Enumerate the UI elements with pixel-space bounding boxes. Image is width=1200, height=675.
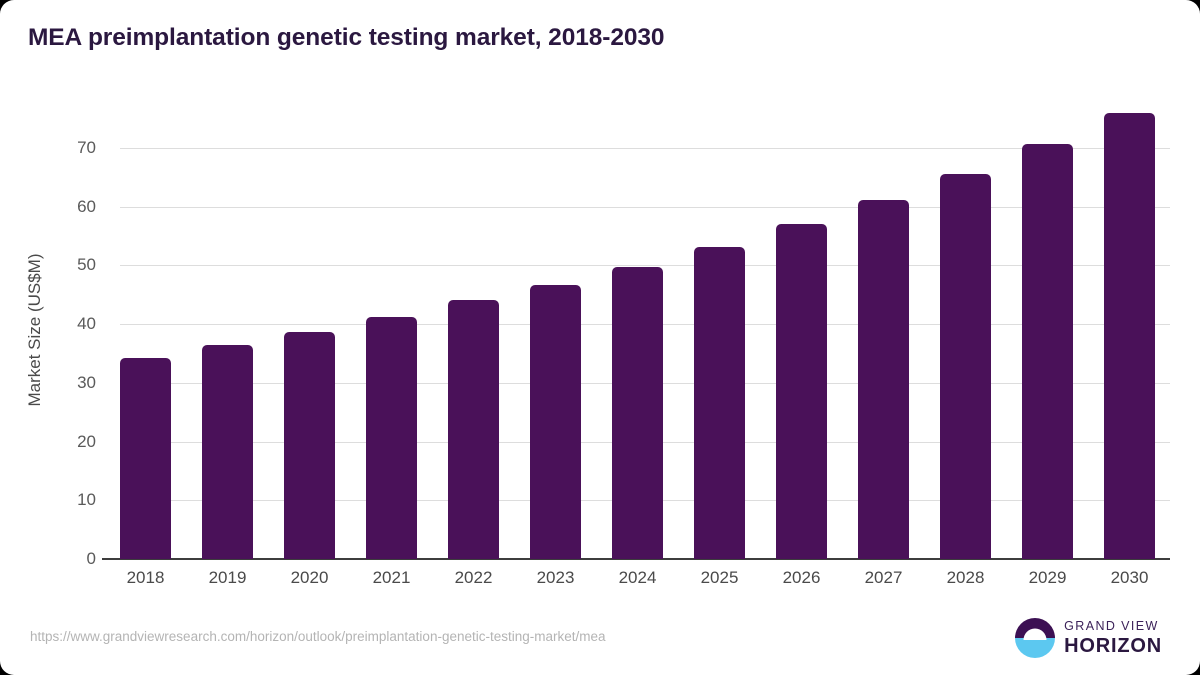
y-tick-label: 60 xyxy=(40,197,96,217)
x-tick-label-2023: 2023 xyxy=(516,568,596,588)
bar-2024[interactable] xyxy=(612,267,663,559)
logo-wordmark: GRAND VIEW HORIZON xyxy=(1064,620,1162,656)
grand-view-horizon-logo-icon xyxy=(1015,618,1055,658)
bar-2023[interactable] xyxy=(530,285,581,559)
x-tick-label-2025: 2025 xyxy=(680,568,760,588)
x-tick-label-2022: 2022 xyxy=(434,568,514,588)
y-tick-label: 30 xyxy=(40,373,96,393)
logo-line-1: GRAND VIEW xyxy=(1064,620,1162,633)
y-tick-label: 20 xyxy=(40,432,96,452)
bar-2019[interactable] xyxy=(202,345,253,559)
gridline xyxy=(120,207,1170,208)
x-tick-label-2019: 2019 xyxy=(188,568,268,588)
x-tick-label-2020: 2020 xyxy=(270,568,350,588)
bar-2018[interactable] xyxy=(120,358,171,559)
x-tick-label-2021: 2021 xyxy=(352,568,432,588)
x-tick-label-2029: 2029 xyxy=(1008,568,1088,588)
brand-logo: GRAND VIEW HORIZON xyxy=(1015,618,1162,658)
bar-2029[interactable] xyxy=(1022,144,1073,559)
bar-2022[interactable] xyxy=(448,300,499,559)
y-tick-label: 0 xyxy=(40,549,96,569)
chart-plot-area: Market Size (US$M) 010203040506070 20182… xyxy=(0,0,1200,675)
y-tick-label: 50 xyxy=(40,255,96,275)
bar-2028[interactable] xyxy=(940,174,991,559)
x-tick-label-2030: 2030 xyxy=(1090,568,1170,588)
x-tick-label-2028: 2028 xyxy=(926,568,1006,588)
bar-2030[interactable] xyxy=(1104,113,1155,559)
source-url[interactable]: https://www.grandviewresearch.com/horizo… xyxy=(30,629,606,644)
y-tick-label: 10 xyxy=(40,490,96,510)
x-tick-label-2027: 2027 xyxy=(844,568,924,588)
bar-2025[interactable] xyxy=(694,247,745,559)
bar-2021[interactable] xyxy=(366,317,417,559)
chart-card: MEA preimplantation genetic testing mark… xyxy=(0,0,1200,675)
bar-2026[interactable] xyxy=(776,224,827,559)
y-tick-label: 40 xyxy=(40,314,96,334)
gridline xyxy=(120,148,1170,149)
bar-2020[interactable] xyxy=(284,332,335,559)
y-tick-label: 70 xyxy=(40,138,96,158)
x-tick-label-2018: 2018 xyxy=(106,568,186,588)
bar-2027[interactable] xyxy=(858,200,909,559)
x-tick-label-2026: 2026 xyxy=(762,568,842,588)
logo-line-2: HORIZON xyxy=(1064,636,1162,656)
x-tick-label-2024: 2024 xyxy=(598,568,678,588)
